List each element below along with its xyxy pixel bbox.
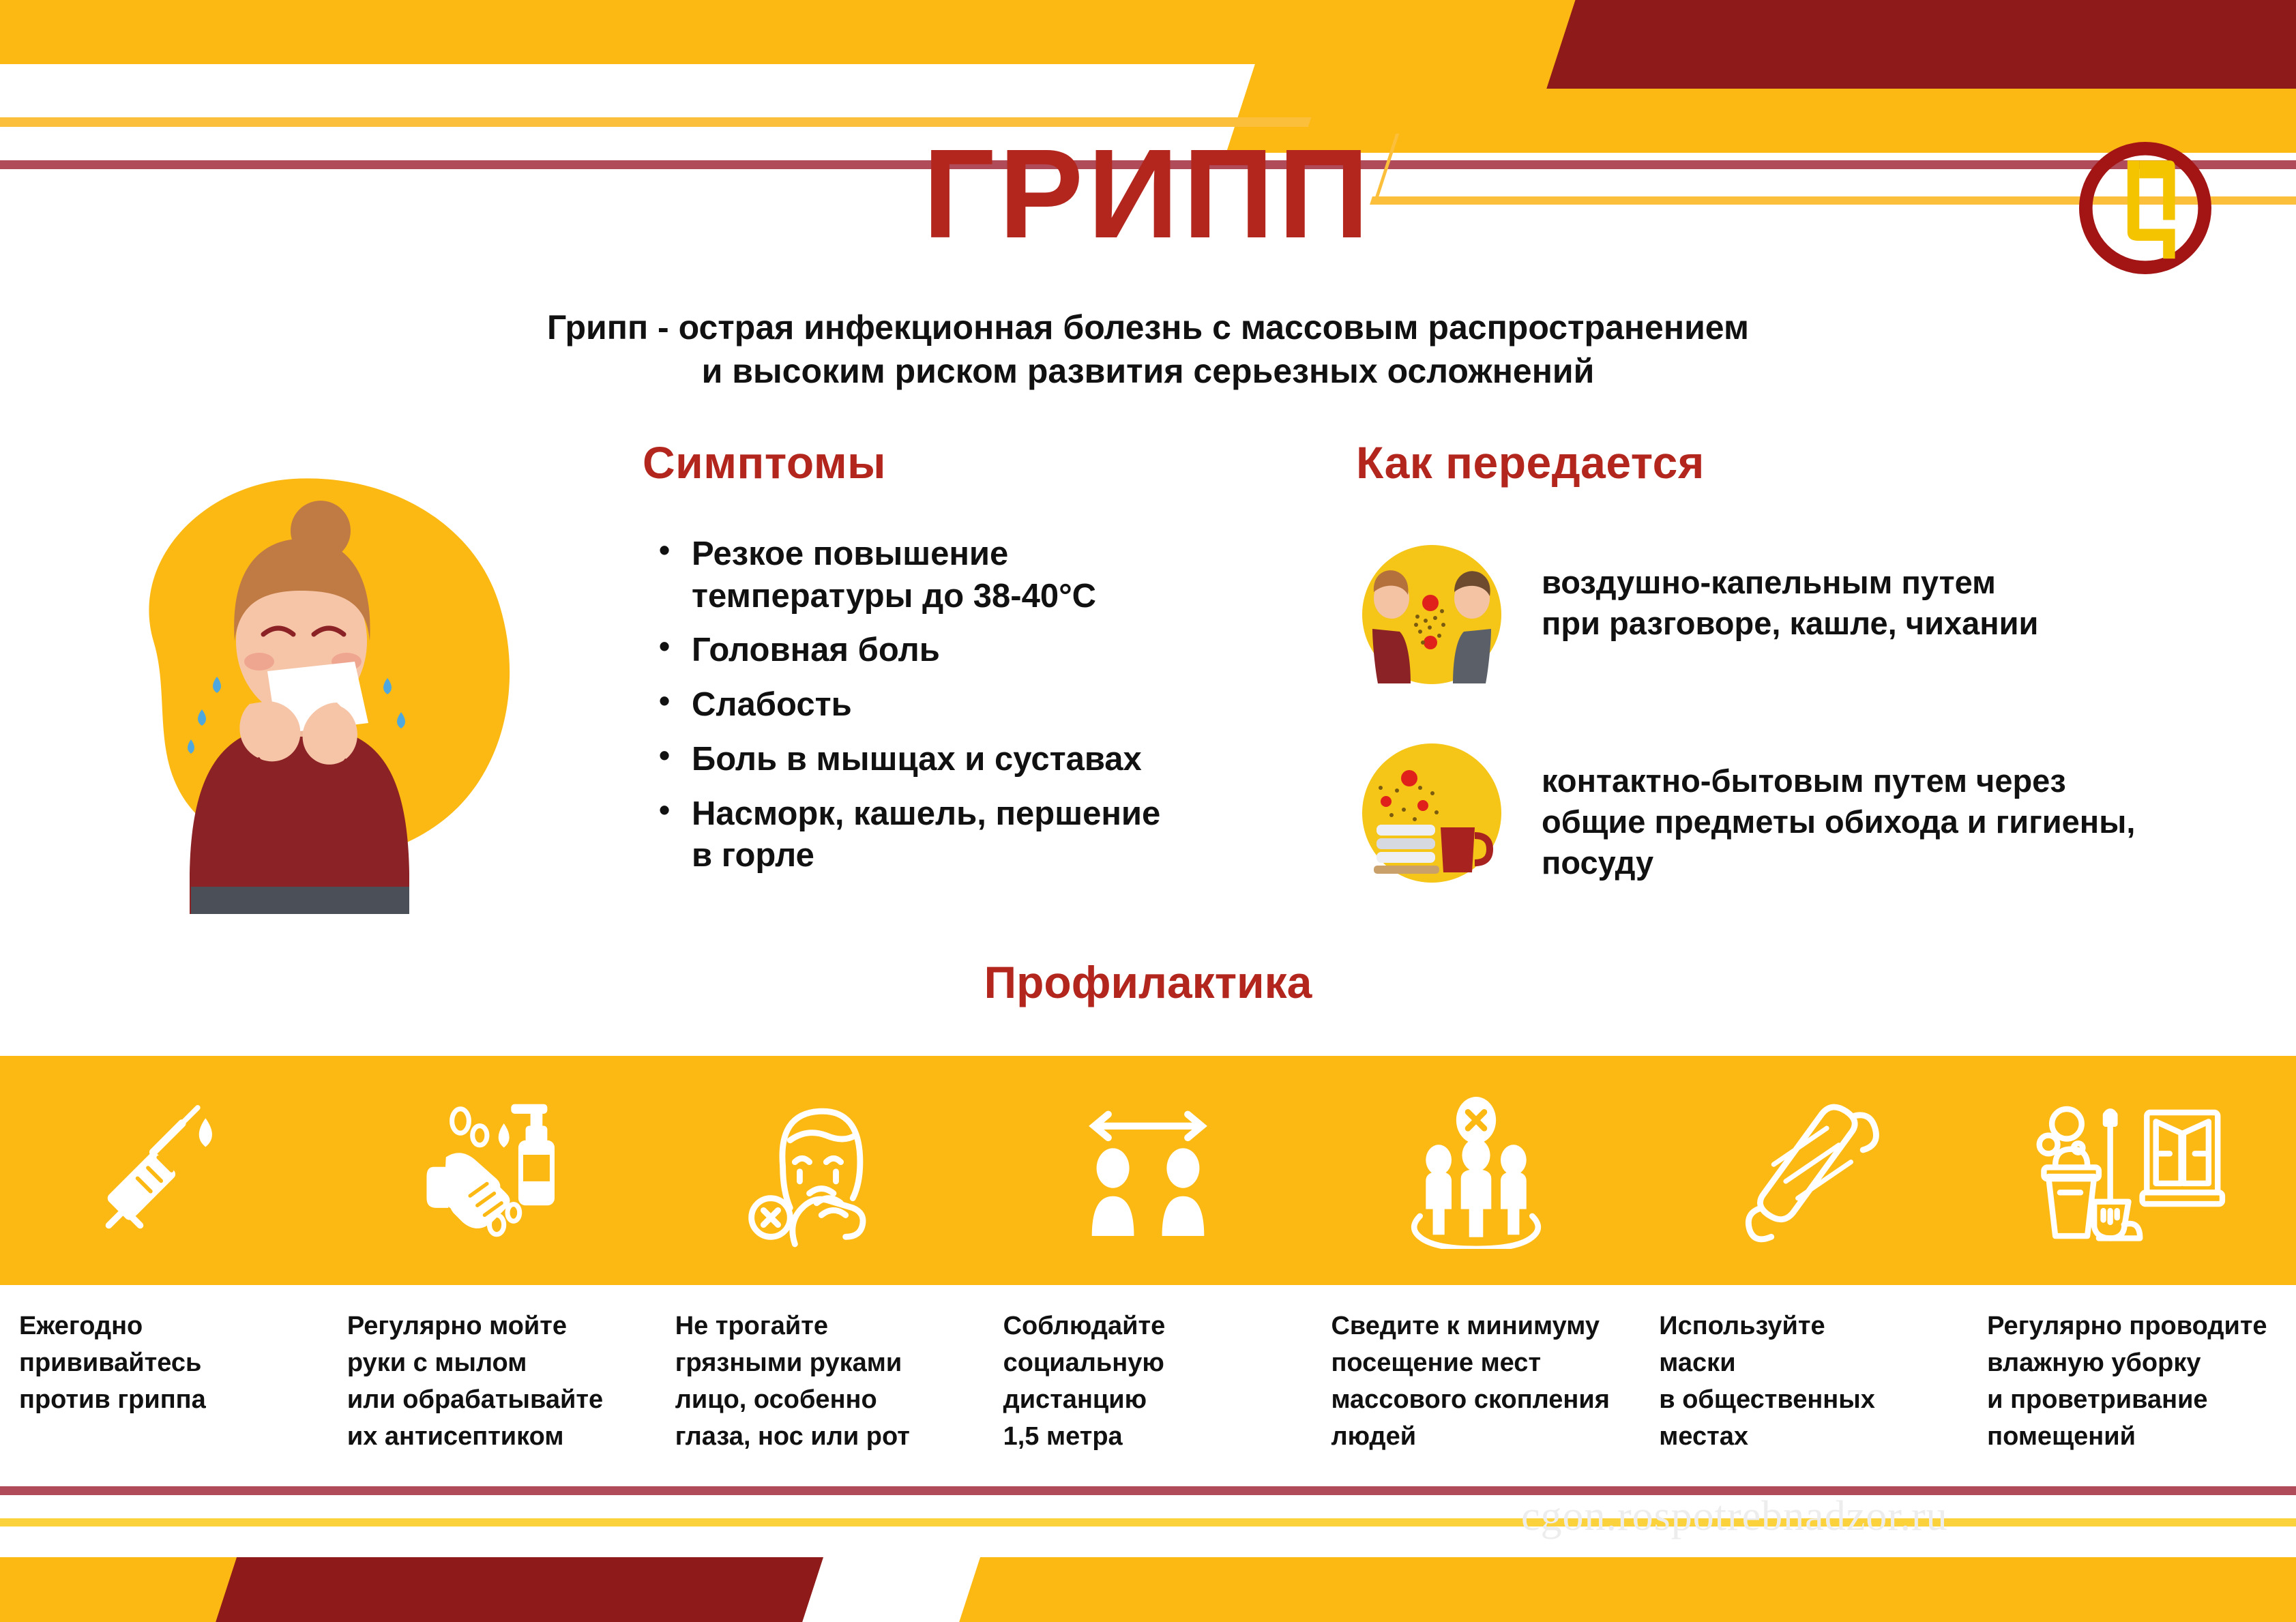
bottom-yellow-rule xyxy=(0,1518,2296,1527)
prevention-caption: Соблюдайте социальную дистанцию 1,5 метр… xyxy=(984,1308,1312,1456)
prevention-caption: Не трогайте грязными руками лицо, особен… xyxy=(656,1308,984,1456)
transmission-text: воздушно-капельным путем при разговоре, … xyxy=(1542,540,2038,644)
prevention-caption: Регулярно проводите влажную уборку и про… xyxy=(1968,1308,2296,1456)
bottom-left-yellow-band xyxy=(0,1557,312,1622)
page-title: ГРИПП xyxy=(0,121,2296,267)
prevention-caption-text: Регулярно мойте руки с мылом или обрабат… xyxy=(347,1308,647,1456)
no-crowds-icon xyxy=(1312,1056,1640,1285)
bottom-right-yellow-band xyxy=(957,1557,2296,1622)
face-mask-icon xyxy=(1640,1056,1968,1285)
sneezing-woman-illustration xyxy=(89,437,614,914)
prevention-caption: Сведите к минимуму посещение мест массов… xyxy=(1312,1308,1640,1456)
prevention-caption: Ежегодно прививайтесь против гриппа xyxy=(0,1308,328,1456)
influenza-infographic-poster: ГРИПП Грипп - острая инфекционная болезн… xyxy=(0,0,2296,1622)
prevention-caption-text: Используйте маски в общественных местах xyxy=(1659,1308,1958,1456)
symptoms-list: Резкое повышение температуры до 38-40°С … xyxy=(649,533,1222,889)
prevention-caption-row: Ежегодно прививайтесь против гриппа Регу… xyxy=(0,1308,2296,1456)
cleaning-ventilation-icon xyxy=(1968,1056,2296,1285)
rospotrebnadzor-logo xyxy=(2071,134,2220,282)
page-subtitle: Грипп - острая инфекционная болезнь с ма… xyxy=(0,306,2296,393)
transmission-item: воздушно-капельным путем при разговоре, … xyxy=(1357,540,2038,689)
top-left-yellow-band xyxy=(0,0,1321,64)
list-item: Головная боль xyxy=(649,630,1222,672)
prevention-caption: Используйте маски в общественных местах xyxy=(1640,1308,1968,1456)
social-distance-icon xyxy=(984,1056,1312,1285)
list-item: Слабость xyxy=(649,684,1222,726)
symptoms-heading: Симптомы xyxy=(643,437,886,488)
transmission-text: контактно-бытовым путем через общие пред… xyxy=(1542,739,2135,883)
list-item: Резкое повышение температуры до 38-40°С xyxy=(649,533,1222,617)
list-item: Боль в мышцах и суставах xyxy=(649,739,1222,781)
top-dark-red-band xyxy=(1546,0,2296,89)
dishes-mug-contamination-icon xyxy=(1357,739,1506,887)
prevention-caption-text: Не трогайте грязными руками лицо, особен… xyxy=(675,1308,975,1456)
prevention-caption: Регулярно мойте руки с мылом или обрабат… xyxy=(328,1308,656,1456)
syringe-vaccine-icon xyxy=(0,1056,328,1285)
source-watermark: cgon.rospotrebnadzor.ru xyxy=(1521,1492,1948,1541)
prevention-heading: Профилактика xyxy=(0,956,2296,1008)
no-face-touching-icon xyxy=(656,1056,984,1285)
bottom-red-rule xyxy=(0,1486,2296,1495)
prevention-caption-text: Регулярно проводите влажную уборку и про… xyxy=(1987,1308,2286,1456)
washing-hands-soap-icon xyxy=(328,1056,656,1285)
transmission-item: контактно-бытовым путем через общие пред… xyxy=(1357,739,2135,887)
transmission-heading: Как передается xyxy=(1356,437,1705,488)
prevention-caption-text: Соблюдайте социальную дистанцию 1,5 метр… xyxy=(1003,1308,1303,1456)
prevention-caption-text: Ежегодно прививайтесь против гриппа xyxy=(19,1308,319,1419)
two-people-talking-droplets-icon xyxy=(1357,540,1506,689)
list-item: Насморк, кашель, першение в горле xyxy=(649,793,1222,877)
bottom-dark-red-band xyxy=(214,1557,823,1622)
prevention-caption-text: Сведите к минимуму посещение мест массов… xyxy=(1331,1308,1630,1456)
prevention-icon-row xyxy=(0,1056,2296,1285)
